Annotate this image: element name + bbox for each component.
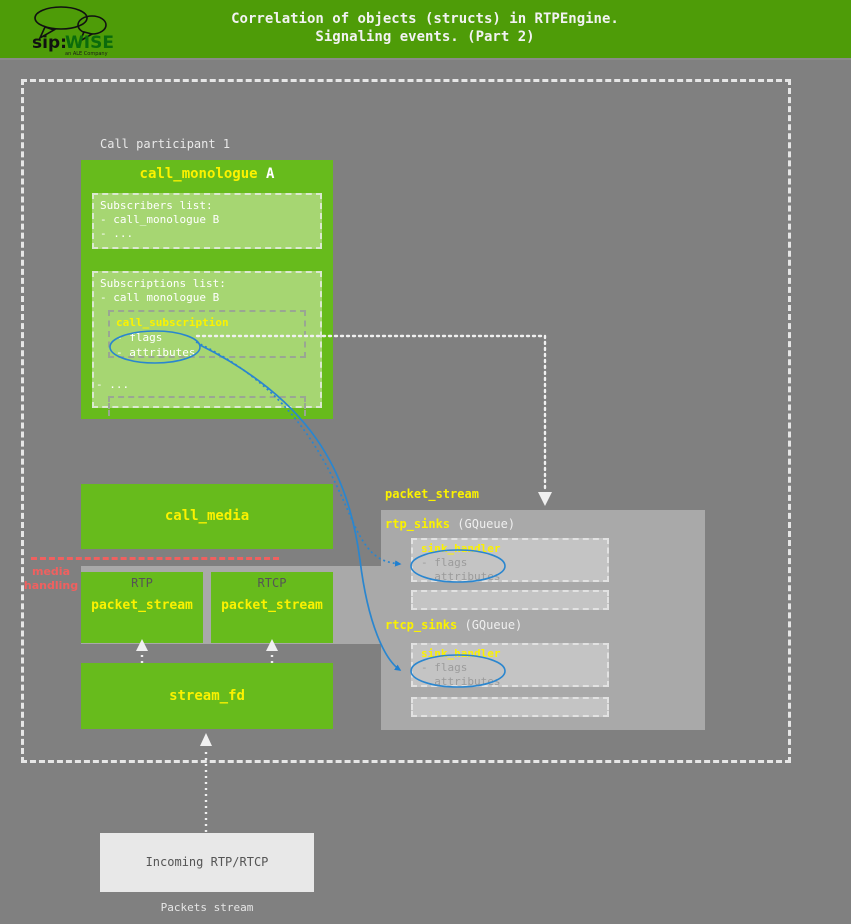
call-monologue-title: call_monologue A <box>81 166 333 182</box>
stream-fd-label: stream_fd <box>81 688 333 704</box>
call-monologue-key: call_monologue <box>140 166 258 182</box>
rtcp-sink-handler-title: sink_handler <box>421 647 599 661</box>
rtcp-sinks-label: rtcp_sinks (GQueue) <box>385 618 522 632</box>
subscribers-item-0: - call_monologue B <box>100 213 314 227</box>
svg-text:WISE: WISE <box>65 33 114 53</box>
rtp-sink-handler-title: sink_handler <box>421 542 599 556</box>
call-media-label: call_media <box>81 508 333 524</box>
rtcp-sinks-type: (GQueue) <box>464 618 522 632</box>
sipwise-logo: sip: WISE an ALE Company <box>28 3 130 57</box>
media-handling-line-1: media <box>22 565 80 579</box>
call-subscription-title: call_subscription <box>116 315 298 330</box>
rtp-sinks-name: rtp_sinks <box>385 517 450 531</box>
subscribers-heading: Subscribers list: <box>100 199 314 213</box>
page-title: Correlation of objects (structs) in RTPE… <box>130 10 720 46</box>
title-line-2: Signaling events. (Part 2) <box>130 28 720 46</box>
rtcp-sink-handler-field-attributes: - attributes <box>421 675 599 689</box>
rtcp-struct-label: packet_stream <box>211 598 333 613</box>
subscribers-list-box: Subscribers list: - call_monologue B - .… <box>92 193 322 249</box>
packets-stream-caption: Packets stream <box>100 901 314 914</box>
rtp-sink-handler-field-attributes: - attributes <box>421 570 599 584</box>
call-subscription-field-flags: - flags <box>116 330 298 345</box>
incoming-packets-label: Incoming RTP/RTCP <box>100 855 314 869</box>
rtcp-kind-label: RTCP <box>211 576 333 590</box>
packet-stream-panel-title: packet_stream <box>385 487 479 501</box>
subscribers-item-1: - ... <box>100 227 314 241</box>
call-subscription-field-attributes: - attributes <box>116 345 298 360</box>
rtp-sinks-type: (GQueue) <box>457 517 515 531</box>
rtcp-sink-handler-field-flags: - flags <box>421 661 599 675</box>
subscriptions-ellipsis: - ... <box>96 378 129 391</box>
rtp-sink-handler-box-empty[interactable] <box>411 590 609 610</box>
svg-text:an ALE Company: an ALE Company <box>65 51 108 57</box>
title-line-1: Correlation of objects (structs) in RTPE… <box>130 10 720 28</box>
media-handling-line-2: handling <box>22 579 80 593</box>
rtp-struct-label: packet_stream <box>81 598 203 613</box>
subscriptions-item: - call monologue B <box>100 291 314 305</box>
rtcp-sink-handler-box[interactable]: sink_handler - flags - attributes <box>411 643 609 687</box>
rtcp-sink-handler-box-empty[interactable] <box>411 697 609 717</box>
rtcp-sinks-name: rtcp_sinks <box>385 618 457 632</box>
call-monologue-suffix: A <box>266 166 274 182</box>
rtp-sink-handler-box[interactable]: sink_handler - flags - attributes <box>411 538 609 582</box>
rtp-sink-handler-field-flags: - flags <box>421 556 599 570</box>
svg-text:sip:: sip: <box>32 33 67 53</box>
subscriptions-partial-box <box>108 396 306 416</box>
rtp-sinks-label: rtp_sinks (GQueue) <box>385 517 515 531</box>
rtcp-packet-stream-box[interactable]: RTCP packet_stream <box>211 572 333 643</box>
media-handling-divider <box>31 557 279 560</box>
rtp-kind-label: RTP <box>81 576 203 590</box>
subscriptions-heading: Subscriptions list: <box>100 277 314 291</box>
media-handling-label: media handling <box>22 565 80 593</box>
call-participant-label: Call participant 1 <box>100 137 230 151</box>
rtp-packet-stream-box[interactable]: RTP packet_stream <box>81 572 203 643</box>
call-subscription-box[interactable]: call_subscription - flags - attributes <box>108 310 306 358</box>
